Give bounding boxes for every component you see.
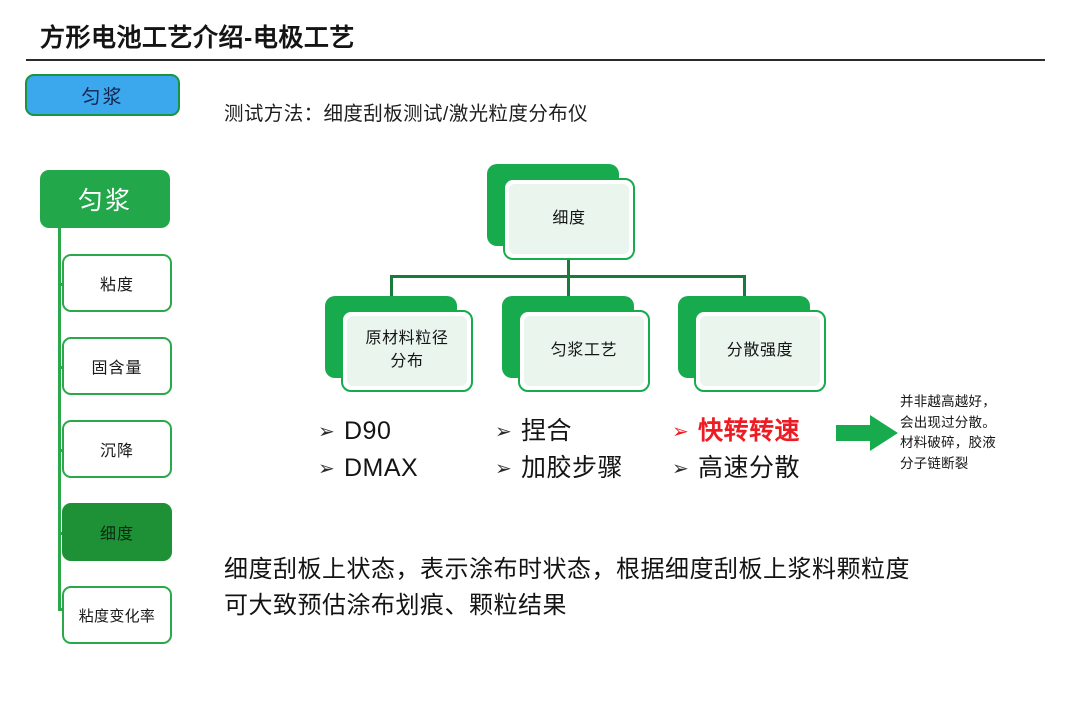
bullet-label: DMAX	[344, 451, 418, 486]
tree-root-label: 匀浆	[78, 181, 132, 217]
tree-item-label: 粘度变化率	[79, 605, 156, 626]
side-note-line: 分子链断裂	[900, 454, 1068, 475]
right-arrow-icon	[836, 415, 898, 451]
bullet-arrow-icon: ➢	[318, 422, 344, 442]
bullet-arrow-icon: ➢	[495, 459, 521, 479]
process-tree: 匀浆 粘度 固含量 沉降 细度 粘度变化率	[0, 0, 230, 712]
tree-item-label: 沉降	[100, 437, 134, 461]
bullet-label: 捏合	[521, 414, 572, 449]
bullet-column-dispersion: ➢ 快转转速 ➢ 高速分散	[672, 414, 800, 487]
bullet-item[interactable]: ➢ D90	[318, 414, 418, 449]
bullet-label: 加胶步骤	[521, 451, 623, 486]
bullet-item[interactable]: ➢ DMAX	[318, 451, 418, 486]
tree-item-viscosity[interactable]: 粘度	[62, 254, 172, 312]
tree-item-label: 粘度	[100, 271, 134, 295]
flow-node-label: 原材料粒径 分布	[347, 316, 467, 386]
dispersion-warning-note: 并非越高越好， 会出现过分散。 材料破碎，胶液 分子链断裂	[900, 392, 1068, 474]
fineness-summary-text: 细度刮板上状态，表示涂布时状态，根据细度刮板上浆料颗粒度可大致预估涂布划痕、颗粒…	[224, 552, 924, 625]
side-note-line: 并非越高越好，	[900, 392, 1068, 413]
tree-item-label: 细度	[100, 520, 134, 544]
flow-node-label: 分散强度	[700, 316, 820, 386]
flow-node-label: 匀浆工艺	[524, 316, 644, 386]
tree-item-sedimentation[interactable]: 沉降	[62, 420, 172, 478]
bullet-column-particle-size: ➢ D90 ➢ DMAX	[318, 414, 418, 487]
bullet-label: D90	[344, 414, 391, 449]
side-note-line: 会出现过分散。	[900, 413, 1068, 434]
bullet-arrow-icon: ➢	[318, 459, 344, 479]
bullet-arrow-icon: ➢	[672, 422, 698, 442]
tree-item-viscosity-change-rate[interactable]: 粘度变化率	[62, 586, 172, 644]
bullet-label: 快转转速	[698, 414, 800, 449]
bullet-item-highlighted[interactable]: ➢ 快转转速	[672, 414, 800, 449]
bullet-label: 高速分散	[698, 451, 800, 486]
tree-item-fineness[interactable]: 细度	[62, 503, 172, 561]
side-note-line: 材料破碎，胶液	[900, 433, 1068, 454]
bullet-column-slurry-process: ➢ 捏合 ➢ 加胶步骤	[495, 414, 623, 487]
bullet-arrow-icon: ➢	[495, 422, 521, 442]
tree-root-node[interactable]: 匀浆	[40, 170, 170, 228]
tree-item-solid-content[interactable]: 固含量	[62, 337, 172, 395]
bullet-arrow-icon: ➢	[672, 459, 698, 479]
bullet-item[interactable]: ➢ 捏合	[495, 414, 623, 449]
test-method-text: 测试方法：细度刮板测试/激光粒度分布仪	[224, 97, 588, 126]
bullet-item[interactable]: ➢ 加胶步骤	[495, 451, 623, 486]
bullet-item[interactable]: ➢ 高速分散	[672, 451, 800, 486]
flow-node-label: 细度	[509, 184, 629, 254]
tree-item-label: 固含量	[91, 354, 142, 378]
